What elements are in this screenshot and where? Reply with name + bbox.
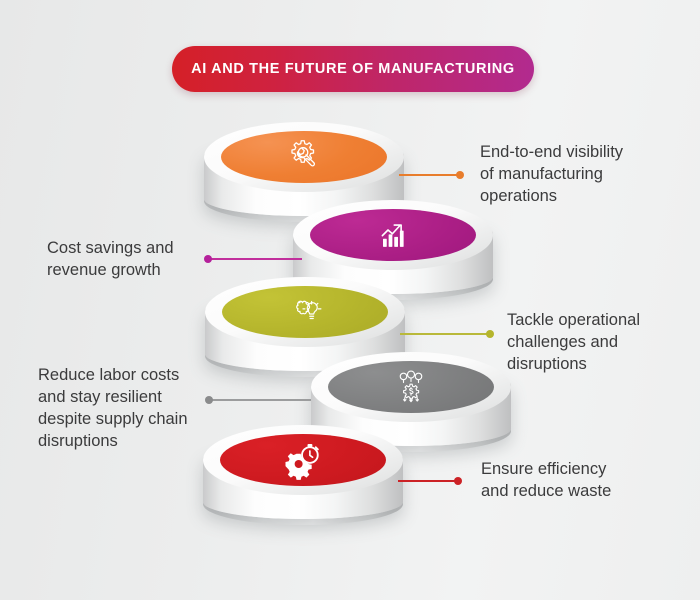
connector-reduce-labor-costs [209,399,311,401]
caption-reduce-labor-costs: Reduce labor costs and stay resilient de… [38,365,213,453]
caption-ensure-efficiency: Ensure efficiency and reduce waste [481,459,681,503]
connector-cost-savings [208,258,302,260]
connector-tackle-operational-challenges [400,333,490,335]
title-banner: AI AND THE FUTURE OF MANUFACTURING [172,46,534,92]
disc-face [222,286,388,338]
connector-end-to-end-visibility [399,174,460,176]
infographic-canvas: AI AND THE FUTURE OF MANUFACTURING End-t… [0,0,700,600]
gear-stopwatch-icon [281,440,325,480]
lightbulb-puzzle-icon [283,292,327,332]
connector-dot [486,330,494,338]
connector-dot [456,171,464,179]
caption-end-to-end-visibility: End-to-end visibility of manufacturing o… [480,142,685,208]
dollar-gear-network-icon [389,367,433,407]
connector-line [209,399,311,401]
disc-ensure-efficiency[interactable] [203,425,403,529]
bar-chart-growth-icon [371,215,415,255]
caption-tackle-operational-challenges: Tackle operational challenges and disrup… [507,310,687,376]
connector-dot [454,477,462,485]
connector-line [208,258,302,260]
connector-line [398,480,458,482]
caption-cost-savings: Cost savings and revenue growth [47,238,207,282]
gear-wrench-icon [282,137,326,177]
connector-ensure-efficiency [398,480,458,482]
disc-face [328,361,494,413]
disc-face [310,209,476,261]
connector-line [400,333,490,335]
connector-line [399,174,460,176]
disc-face [221,131,387,183]
page-title: AI AND THE FUTURE OF MANUFACTURING [191,61,515,77]
disc-face [220,434,386,486]
